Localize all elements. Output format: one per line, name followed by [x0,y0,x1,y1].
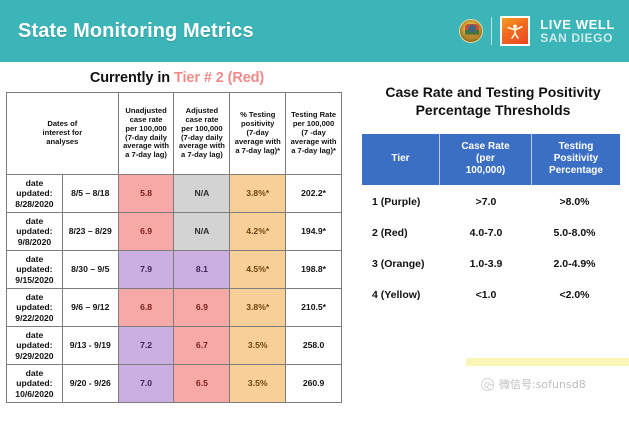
cell-testing-positivity: 3.8%* [230,289,286,327]
cell-date-updated: date updated: 10/6/2020 [7,365,63,403]
state-metrics-table: Dates of interest for analyses Unadjuste… [6,92,342,403]
thresholds-title: Case Rate and Testing Positivity Percent… [362,84,624,119]
col-header-testing-positivity-percentage: Testing Positivity Percentage [532,134,620,185]
cell-unadjusted-case-rate: 7.9 [118,251,174,289]
cell-unadjusted-case-rate: 5.8 [118,175,174,213]
cell-testing-positivity: 3.5% [230,327,286,365]
brand-lockup: LIVE WELL SAN DIEGO [459,16,615,46]
table-row: date updated: 9/8/2020 8/23 – 8/29 6.9 N… [7,213,342,251]
cell-tier-positivity: >8.0% [532,188,620,216]
metrics-panel: Currently in Tier # 2 (Red) Dates of int… [6,66,348,418]
cell-tier-name: 1 (Purple) [362,188,440,216]
cell-tier-case-rate: >7.0 [440,188,532,216]
cell-adjusted-case-rate: 6.9 [174,289,230,327]
watermark-text: 微信号:sofunsd8 [499,376,586,392]
metrics-table-head: Dates of interest for analyses Unadjuste… [7,93,342,175]
cell-testing-rate: 258.0 [286,327,342,365]
thresholds-table-body: 1 (Purple) >7.0 >8.0% 2 (Red) 4.0-7.0 5.… [362,188,620,309]
cell-testing-positivity: 4.2%* [230,213,286,251]
cell-testing-positivity: 4.5%* [230,251,286,289]
cell-tier-case-rate: 1.0-3.9 [440,250,532,278]
cell-tier-name: 2 (Red) [362,219,440,247]
cell-tier-case-rate: 4.0-7.0 [440,219,532,247]
page-title: State Monitoring Metrics [18,20,254,43]
brand-divider [491,17,492,45]
cell-unadjusted-case-rate: 7.0 [118,365,174,403]
table-row: date updated: 9/22/2020 9/6 – 9/12 6.8 6… [7,289,342,327]
table-row: date updated: 9/29/2020 9/13 - 9/19 7.2 … [7,327,342,365]
col-header-testing-positivity: % Testing positivity (7-day average with… [230,93,286,175]
col-header-testing-rate: Testing Rate per 100,000 (7 -day average… [286,93,342,175]
cell-tier-positivity: 2.0-4.9% [532,250,620,278]
cell-date-updated: date updated: 9/29/2020 [7,327,63,365]
col-header-dates: Dates of interest for analyses [7,93,119,175]
cell-unadjusted-case-rate: 6.8 [118,289,174,327]
cell-testing-rate: 194.9* [286,213,342,251]
current-tier-heading: Currently in Tier # 2 (Red) [6,70,348,86]
cell-date-updated: date updated: 9/22/2020 [7,289,63,327]
cell-testing-positivity: 3.5% [230,365,286,403]
thresholds-title-line-2: Percentage Thresholds [362,102,624,120]
cell-testing-rate: 202.2* [286,175,342,213]
cell-tier-case-rate: <1.0 [440,281,532,309]
wechat-icon [481,378,494,391]
cell-tier-name: 3 (Orange) [362,250,440,278]
cell-testing-rate: 260.9 [286,365,342,403]
metrics-header-row: Dates of interest for analyses Unadjuste… [7,93,342,175]
table-row: 3 (Orange) 1.0-3.9 2.0-4.9% [362,250,620,278]
thresholds-table-head: Tier Case Rate (per 100,000) Testing Pos… [362,134,620,185]
cell-tier-name: 4 (Yellow) [362,281,440,309]
cell-adjusted-case-rate: 8.1 [174,251,230,289]
cell-date-range: 9/6 – 9/12 [62,289,118,327]
watermark: 微信号:sofunsd8 [481,376,586,392]
live-well-sun-figure-icon [500,16,530,46]
cell-date-updated: date updated: 8/28/2020 [7,175,63,213]
col-header-adjusted-case-rate: Adjusted case rate per 100,000 (7-day da… [174,93,230,175]
table-row: date updated: 8/28/2020 8/5 – 8/18 5.8 N… [7,175,342,213]
brand-line-1: LIVE WELL [540,18,615,31]
metrics-table-body: date updated: 8/28/2020 8/5 – 8/18 5.8 N… [7,175,342,403]
brand-text: LIVE WELL SAN DIEGO [538,18,615,44]
table-row: date updated: 9/15/2020 8/30 – 9/5 7.9 8… [7,251,342,289]
cell-date-range: 8/23 – 8/29 [62,213,118,251]
cell-testing-positivity: 3.8%* [230,175,286,213]
cell-date-updated: date updated: 9/8/2020 [7,213,63,251]
col-header-tier: Tier [362,134,440,185]
cell-adjusted-case-rate: N/A [174,213,230,251]
cell-date-range: 8/30 – 9/5 [62,251,118,289]
cell-date-range: 9/20 - 9/26 [62,365,118,403]
thresholds-header-row: Tier Case Rate (per 100,000) Testing Pos… [362,134,620,185]
thresholds-panel: Case Rate and Testing Positivity Percent… [362,66,624,312]
current-tier-value: Tier # 2 (Red) [174,70,264,86]
cell-tier-positivity: <2.0% [532,281,620,309]
tier-thresholds-table: Tier Case Rate (per 100,000) Testing Pos… [362,131,620,312]
page-header: State Monitoring Metrics LIVE WELL SAN D… [0,0,629,62]
cell-tier-positivity: 5.0-8.0% [532,219,620,247]
brand-line-2: SAN DIEGO [540,32,615,44]
cell-testing-rate: 198.8* [286,251,342,289]
col-header-unadjusted-case-rate: Unadjusted case rate per 100,000 (7-day … [118,93,174,175]
cell-date-range: 8/5 – 8/18 [62,175,118,213]
cell-adjusted-case-rate: N/A [174,175,230,213]
current-tier-prefix: Currently in [90,70,174,86]
table-row: 4 (Yellow) <1.0 <2.0% [362,281,620,309]
cell-adjusted-case-rate: 6.5 [174,365,230,403]
cell-testing-rate: 210.5* [286,289,342,327]
cell-adjusted-case-rate: 6.7 [174,327,230,365]
cell-date-updated: date updated: 9/15/2020 [7,251,63,289]
table-row: 1 (Purple) >7.0 >8.0% [362,188,620,216]
cell-unadjusted-case-rate: 7.2 [118,327,174,365]
cell-date-range: 9/13 - 9/19 [62,327,118,365]
county-seal-icon [459,19,483,43]
col-header-case-rate: Case Rate (per 100,000) [440,134,532,185]
table-row: 2 (Red) 4.0-7.0 5.0-8.0% [362,219,620,247]
watermark-highlight-strip [466,358,629,366]
table-row: date updated: 10/6/2020 9/20 - 9/26 7.0 … [7,365,342,403]
cell-unadjusted-case-rate: 6.9 [118,213,174,251]
thresholds-title-line-1: Case Rate and Testing Positivity [362,84,624,102]
figure-glyph-icon [506,22,524,40]
